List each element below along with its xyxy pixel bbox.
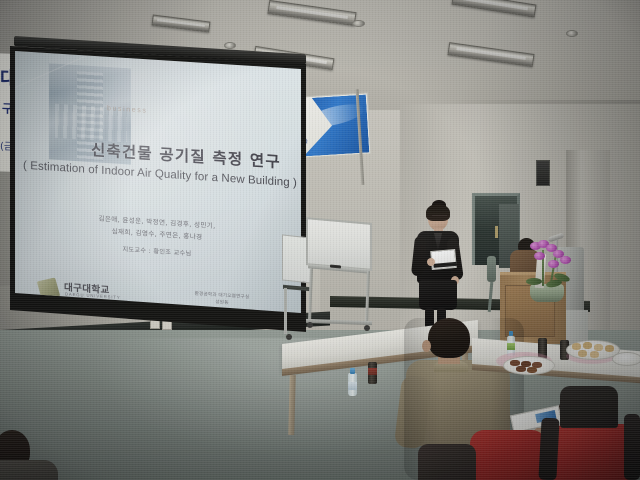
presentation-slide: business 신축건물 공기질 측정 연구 ( Estimation of … [13, 47, 301, 325]
secondary-board-leg [284, 288, 287, 334]
man-ear [422, 340, 431, 352]
food-item [583, 342, 592, 349]
orchid-petal [560, 256, 571, 264]
food-item [572, 343, 581, 350]
food-plate [612, 352, 640, 366]
ceiling-spotlight [352, 20, 365, 27]
whiteboard-caster [364, 325, 370, 331]
food-item [590, 351, 599, 358]
ceiling-spotlight [566, 30, 578, 37]
auditorium-seat-shadowed[interactable] [560, 386, 618, 428]
flower-leaf [526, 278, 542, 285]
bottle-label [507, 343, 515, 350]
food-item [594, 344, 603, 351]
food-item [527, 367, 537, 373]
seat-armrest [538, 418, 559, 480]
photo-scene: 대 구 · (금) 발표회 표회 대구대학교 환경공학과 business 신축… [0, 0, 640, 480]
glasses-icon [432, 215, 447, 219]
seat-armrest [624, 414, 640, 480]
chair-back [487, 256, 496, 282]
presenter-hand-left [427, 258, 435, 266]
flower-arrangement [522, 240, 578, 302]
food-item [516, 366, 526, 372]
food-item [605, 345, 614, 352]
man-head [428, 318, 470, 358]
bottle-cap[interactable] [350, 368, 355, 374]
orchid-petal [534, 252, 545, 260]
whiteboard-caster [286, 334, 292, 340]
bottle-cap[interactable] [509, 331, 513, 336]
bottle-label [348, 382, 357, 390]
orchid-petal [548, 260, 559, 268]
foreground-person-body [0, 460, 58, 480]
beverage-can[interactable] [368, 362, 377, 384]
auditorium-seat-shadowed[interactable] [418, 444, 476, 480]
auditorium-seat[interactable] [470, 430, 546, 480]
food-item [578, 350, 587, 357]
water-bottle[interactable] [348, 366, 357, 396]
whiteboard [306, 217, 372, 271]
projection-screen: business 신축건물 공기질 측정 연구 ( Estimation of … [6, 34, 306, 334]
presenter-skirt [419, 280, 457, 310]
whiteboard-caster [307, 322, 313, 328]
screen-surface: business 신축건물 공기질 측정 연구 ( Estimation of … [13, 47, 301, 325]
